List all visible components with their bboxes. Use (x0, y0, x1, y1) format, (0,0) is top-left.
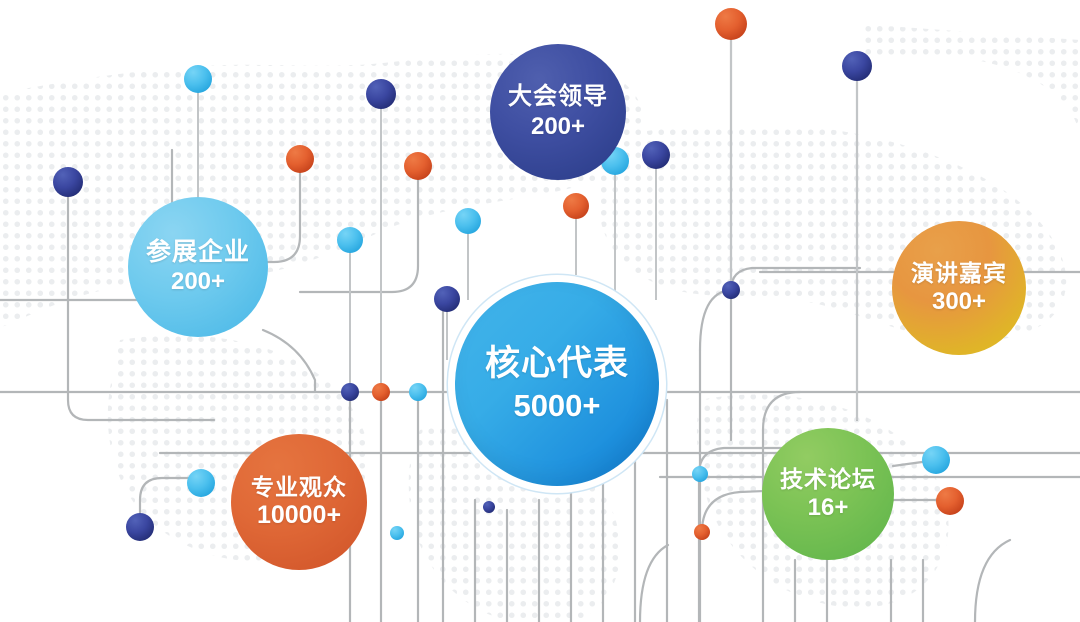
leaders-label: 大会领导 (508, 84, 608, 109)
stat-bubble-speakers[interactable]: 演讲嘉宾 300+ (892, 221, 1026, 355)
core-label: 核心代表 (485, 345, 629, 382)
forums-label: 技术论坛 (780, 467, 876, 491)
speakers-value: 300+ (932, 289, 986, 315)
audience-value: 10000+ (257, 502, 341, 530)
exhibitors-value: 200+ (171, 269, 225, 295)
forums-value: 16+ (808, 495, 849, 521)
core-inner-circle: 核心代表 5000+ (455, 282, 659, 486)
leaders-value: 200+ (531, 114, 585, 140)
stat-bubble-leaders[interactable]: 大会领导 200+ (490, 44, 626, 180)
exhibitors-label: 参展企业 (146, 239, 250, 266)
stat-bubble-core-delegates[interactable]: 核心代表 5000+ (448, 275, 666, 493)
stat-bubble-forums[interactable]: 技术论坛 16+ (762, 428, 894, 560)
infographic-canvas: 核心代表 5000+ 参展企业 200+ 大会领导 200+ 演讲嘉宾 300+… (0, 0, 1080, 622)
stat-bubble-audience[interactable]: 专业观众 10000+ (231, 434, 367, 570)
stat-bubble-exhibitors[interactable]: 参展企业 200+ (128, 197, 268, 337)
statistic-bubbles: 核心代表 5000+ 参展企业 200+ 大会领导 200+ 演讲嘉宾 300+… (0, 0, 1080, 622)
audience-label: 专业观众 (251, 475, 347, 499)
speakers-label: 演讲嘉宾 (911, 261, 1007, 285)
core-value: 5000+ (513, 389, 600, 423)
